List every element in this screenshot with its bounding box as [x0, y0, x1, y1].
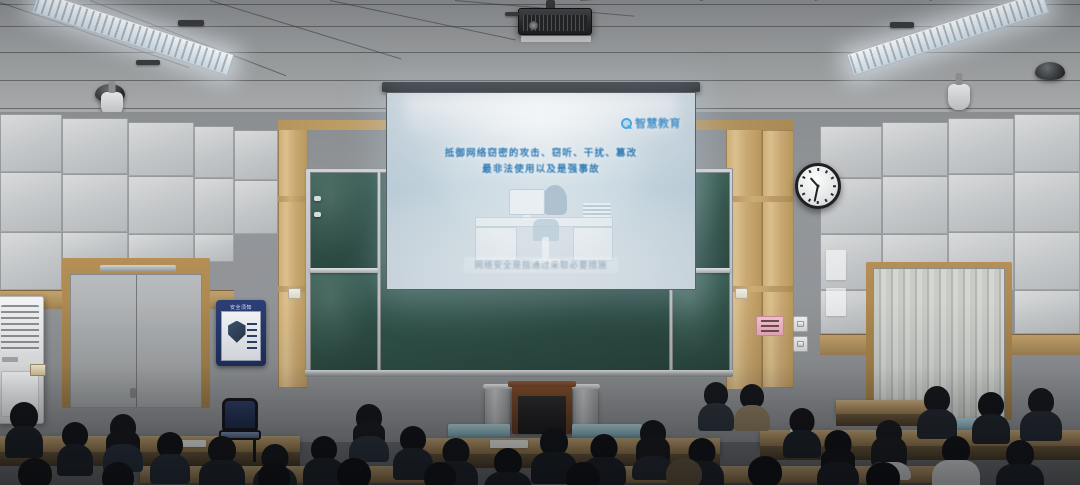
student-body: [817, 462, 859, 485]
notice-board-poster: [221, 311, 261, 361]
acoustic-wall-panel: [0, 114, 62, 172]
acoustic-wall-panel: [948, 174, 1014, 232]
seated-student: [252, 462, 296, 485]
student-head: [424, 462, 456, 485]
acoustic-wall-panel: [0, 172, 62, 232]
chalkboard-panel-left-bottom: [310, 272, 378, 372]
seated-student: [786, 408, 818, 458]
emergency-light: [30, 364, 46, 376]
acoustic-wall-panel: [194, 126, 234, 178]
student-head: [666, 458, 702, 485]
board-clip: [314, 212, 321, 217]
door-handle[interactable]: [130, 388, 136, 398]
acoustic-wall-panel: [194, 178, 234, 234]
front-bench-left: [448, 424, 510, 438]
seated-student: [742, 456, 788, 485]
light-switch-plate-lower[interactable]: [793, 336, 808, 352]
fluorescent-tube-light-right: [846, 0, 1049, 76]
student-head: [18, 458, 52, 485]
student-body: [734, 405, 770, 431]
acoustic-wall-panel: [1014, 172, 1080, 232]
seated-student: [560, 462, 606, 485]
student-head: [748, 456, 782, 485]
student-head: [566, 462, 600, 485]
student-body: [199, 460, 245, 485]
acoustic-wall-panel: [234, 180, 278, 234]
chalk-tray: [305, 370, 733, 377]
acoustic-wall-panel: [1014, 232, 1080, 290]
seated-student: [820, 430, 856, 482]
screen-vignette: [387, 93, 695, 289]
analog-wall-clock: [795, 163, 841, 209]
notice-board-header: 安全须知: [219, 303, 263, 311]
seated-student: [660, 458, 708, 485]
student-head: [102, 462, 134, 485]
dome-security-camera-right: [1035, 62, 1065, 80]
light-switch[interactable]: [797, 321, 804, 326]
ceiling-speaker-right: [948, 84, 970, 110]
acoustic-wall-panel: [128, 176, 194, 234]
projection-screen: 智慧教育 抵御网络窃密的攻击、窃听、干扰、篡改 最非法使用以及是强事故 网络安全…: [386, 92, 696, 290]
wood-trim: [278, 196, 308, 202]
student-body: [917, 409, 957, 439]
wall-outlet-left[interactable]: [288, 288, 301, 299]
wall-notice-paper: [826, 288, 846, 316]
clock-minute-hand: [814, 186, 819, 202]
acoustic-wall-panel: [0, 232, 62, 290]
seated-student: [152, 432, 188, 482]
wood-trim: [726, 196, 794, 202]
lecture-hall-photo: 智慧教育 抵御网络窃密的攻击、窃听、干扰、篡改 最非法使用以及是强事故 网络安全…: [0, 0, 1080, 485]
seated-student: [936, 436, 976, 485]
student-head: [258, 462, 290, 485]
student-body: [996, 464, 1044, 485]
wood-column-left: [278, 128, 308, 388]
seated-student: [6, 402, 42, 454]
lectern-top: [508, 381, 576, 387]
ceiling-vent-right: [890, 22, 914, 28]
acoustic-wall-panel: [62, 118, 128, 174]
wall-notice-sign: [756, 316, 784, 336]
projector-ceiling-plate: [521, 36, 591, 42]
student-body: [783, 430, 821, 458]
seated-student: [106, 414, 140, 468]
seated-student: [12, 458, 58, 485]
rear-double-door-left[interactable]: [70, 274, 202, 408]
acoustic-wall-panel: [882, 122, 948, 176]
acoustic-wall-panel: [1014, 290, 1080, 334]
student-body: [5, 426, 43, 458]
wall-outlet-right[interactable]: [735, 288, 748, 299]
fluorescent-tube-light-left: [31, 0, 234, 76]
seated-student: [920, 386, 954, 438]
ceiling-mounted-projector: [518, 8, 592, 35]
acoustic-wall-panel: [948, 118, 1014, 174]
notice-text-lines: [247, 323, 257, 350]
acoustic-wall-panel: [1014, 114, 1080, 172]
ac-brand-badge: [2, 357, 18, 362]
ceiling-vent-left: [136, 60, 160, 65]
door-closer: [100, 265, 176, 272]
seated-student: [418, 462, 462, 485]
student-body: [698, 403, 734, 431]
student-head: [866, 462, 900, 485]
seated-student: [1024, 388, 1058, 440]
desk-papers: [490, 440, 528, 448]
student-body: [150, 454, 190, 484]
board-clip: [314, 196, 321, 201]
seated-student: [58, 422, 92, 472]
seated-student: [202, 436, 242, 485]
chair-backrest: [222, 398, 258, 431]
projector-cable: [505, 12, 519, 16]
student-body: [1020, 411, 1062, 441]
student-body: [57, 444, 93, 476]
fire-safety-notice-board[interactable]: 安全须知: [216, 300, 266, 366]
seated-student: [332, 458, 376, 485]
seated-student: [974, 392, 1008, 442]
acoustic-wall-panel: [62, 174, 128, 232]
notice-badge-icon: [228, 321, 245, 343]
clock-hub: [817, 185, 820, 188]
chalkboard-panel-left-top: [310, 172, 378, 270]
door-center-split: [136, 275, 137, 407]
sign-text-lines: [761, 320, 780, 332]
student-body: [484, 472, 532, 485]
acoustic-wall-panel: [882, 176, 948, 234]
seated-student: [860, 462, 906, 485]
student-body: [932, 460, 980, 485]
wall-notice-paper: [826, 250, 846, 280]
student-head: [337, 458, 371, 485]
seated-student: [96, 462, 140, 485]
seated-student: [488, 448, 528, 485]
light-switch[interactable]: [797, 341, 804, 346]
teaching-lectern[interactable]: [512, 386, 572, 434]
wood-column-right-2: [762, 130, 794, 388]
acoustic-wall-panel: [128, 122, 194, 176]
projection-screen-housing: [382, 82, 700, 92]
seated-student: [352, 404, 386, 460]
ac-louvers: [1, 305, 39, 351]
seated-student: [1000, 440, 1040, 485]
seated-student: [736, 384, 768, 430]
ceiling-vent-center: [178, 20, 204, 26]
seated-student: [700, 382, 732, 430]
acoustic-wall-panel: [234, 130, 278, 180]
light-switch-plate-upper[interactable]: [793, 316, 808, 332]
chalkboard-rail: [310, 268, 378, 273]
